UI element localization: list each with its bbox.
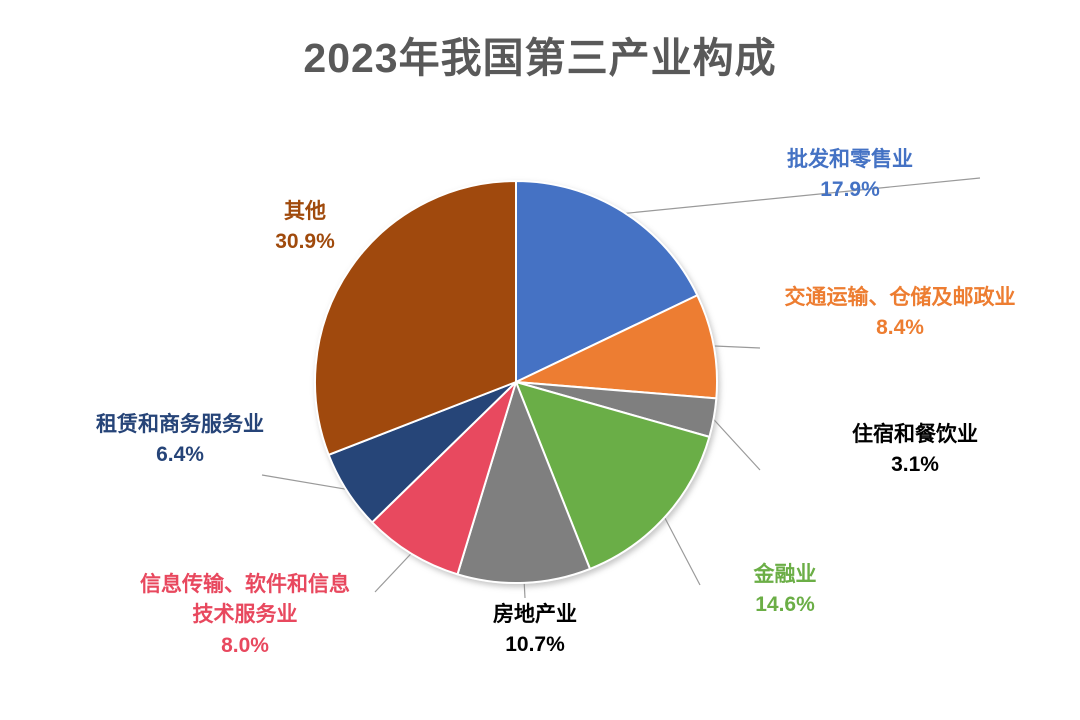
slice-label-real-estate: 房地产业 10.7% (420, 600, 650, 661)
slice-name: 信息传输、软件和信息 (95, 570, 395, 600)
slice-name: 房地产业 (420, 600, 650, 630)
slice-name: 批发和零售业 (700, 145, 1000, 175)
slice-value: 6.4% (45, 440, 315, 470)
slice-name: 金融业 (690, 560, 880, 590)
leader-line (262, 475, 349, 490)
slice-value: 17.9% (700, 175, 1000, 205)
slice-value: 30.9% (215, 227, 395, 257)
pie-chart-figure: 2023年我国第三产业构成 批发和零售业 17.9% 交通运输、仓储及邮政业 8… (0, 0, 1080, 720)
slice-label-other: 其他 30.9% (215, 197, 395, 258)
slice-value: 10.7% (420, 630, 650, 660)
slice-value: 8.4% (740, 313, 1060, 343)
slice-value: 3.1% (790, 450, 1040, 480)
leader-line (712, 417, 760, 470)
slice-label-finance: 金融业 14.6% (690, 560, 880, 621)
slice-label-leasing-business-services: 租赁和商务服务业 6.4% (45, 410, 315, 471)
slice-value: 8.0% (95, 631, 395, 661)
slice-label-transport-storage-post: 交通运输、仓储及邮政业 8.4% (740, 283, 1060, 344)
slice-label-it-software-services: 信息传输、软件和信息 技术服务业 8.0% (95, 570, 395, 661)
slice-name: 交通运输、仓储及邮政业 (740, 283, 1060, 313)
slice-label-accommodation-catering: 住宿和餐饮业 3.1% (790, 420, 1040, 481)
slice-name: 住宿和餐饮业 (790, 420, 1040, 450)
slice-name: 其他 (215, 197, 395, 227)
leader-line (712, 346, 760, 348)
slice-name: 租赁和商务服务业 (45, 410, 315, 440)
slice-value: 14.6% (690, 590, 880, 620)
slice-name-line2: 技术服务业 (95, 600, 395, 630)
slice-label-wholesale-retail: 批发和零售业 17.9% (700, 145, 1000, 206)
